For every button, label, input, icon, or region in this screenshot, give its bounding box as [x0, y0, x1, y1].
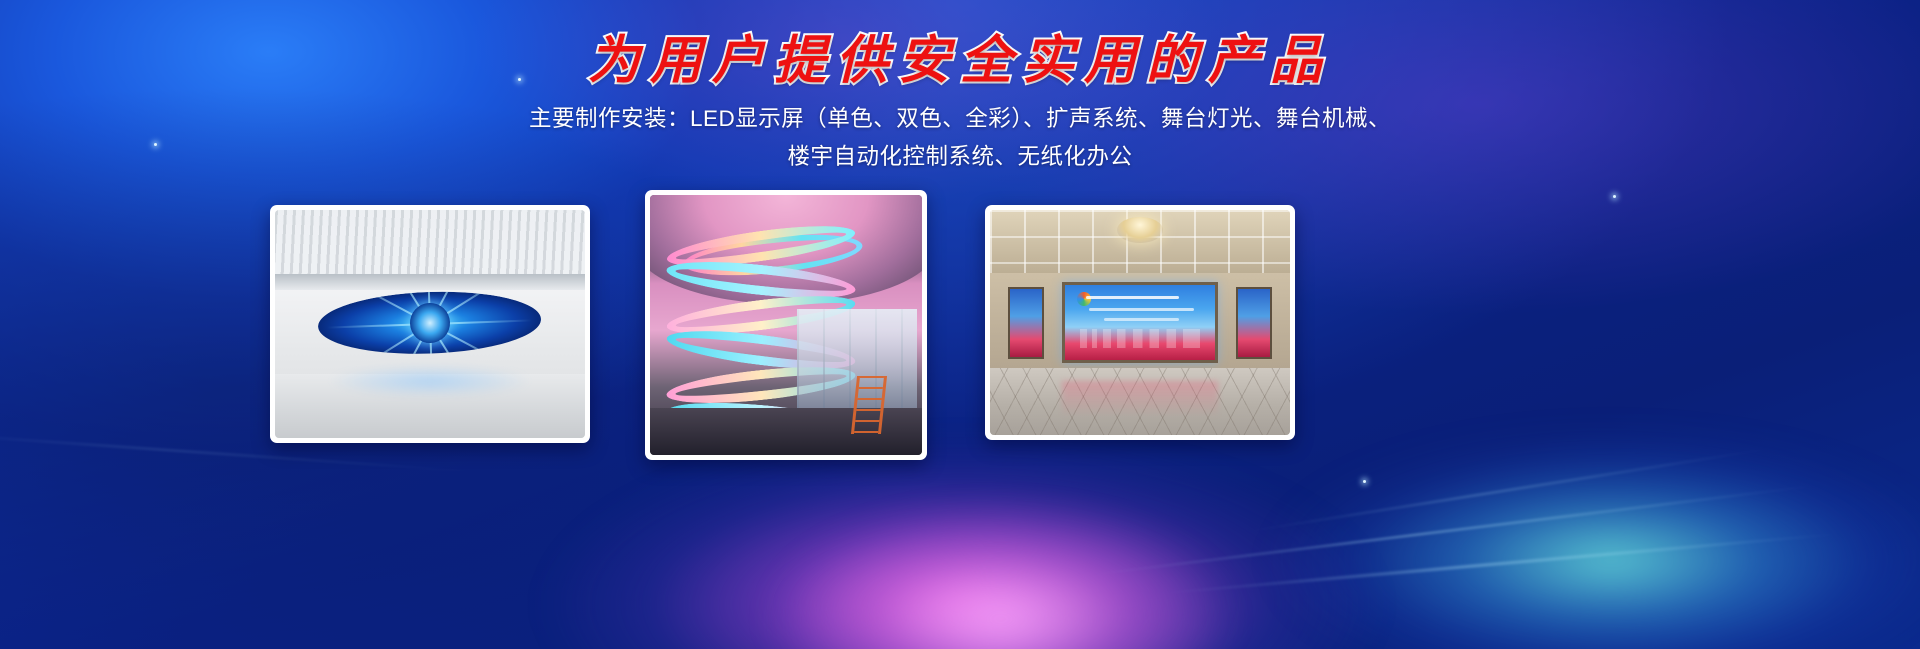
banner-subtitle: 主要制作安装：LED显示屏（单色、双色、全彩）、扩声系统、舞台灯光、舞台机械、 … [0, 100, 1920, 176]
side-led-panel-right [1236, 287, 1272, 359]
subtitle-line-2: 楼宇自动化控制系统、无纸化办公 [0, 138, 1920, 176]
photo-gallery [0, 0, 1920, 649]
photo-eye-shaped-led-screen [275, 210, 585, 438]
photo-spiral-helix-led-ribbon [650, 195, 922, 455]
ceiling-band [275, 274, 585, 290]
main-led-wall [1062, 282, 1218, 363]
eye-led-display [317, 288, 542, 357]
ladder-icon [851, 376, 887, 434]
promo-banner: 为用户提供安全实用的产品 主要制作安装：LED显示屏（单色、双色、全彩）、扩声系… [0, 0, 1920, 649]
subtitle-line-1: 主要制作安装：LED显示屏（单色、双色、全彩）、扩声系统、舞台灯光、舞台机械、 [0, 100, 1920, 138]
skyline-graphic [1080, 329, 1200, 349]
floor-reflection [331, 365, 529, 397]
banner-title-wrap: 为用户提供安全实用的产品 [0, 18, 1920, 93]
photo-banquet-hall-led-wall [990, 210, 1290, 435]
company-logo-icon [1077, 292, 1091, 306]
page-title: 为用户提供安全实用的产品 [588, 18, 1332, 93]
chandelier-icon [1117, 217, 1163, 243]
floor-reflection [1062, 381, 1218, 426]
photo-card-banquet-hall-led-wall[interactable] [985, 205, 1295, 440]
photo-card-eye-shaped-led-screen[interactable] [270, 205, 590, 443]
side-led-panel-left [1008, 287, 1044, 359]
photo-card-spiral-helix-led-ribbon[interactable] [645, 190, 927, 460]
